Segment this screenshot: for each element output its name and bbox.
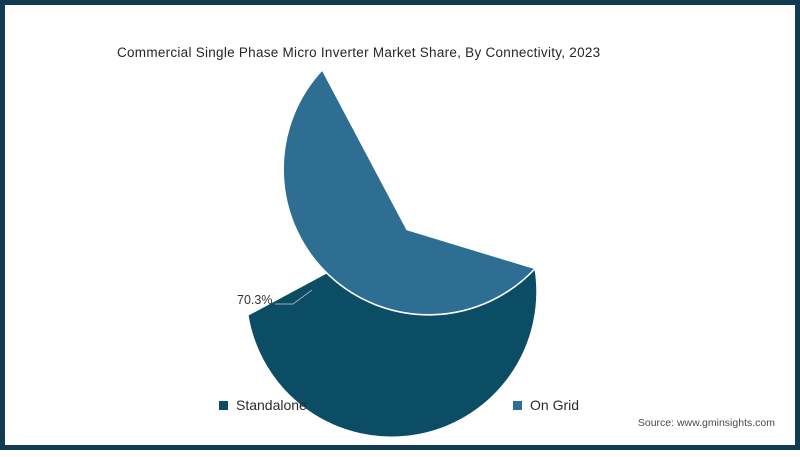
data-label-on-grid: 70.3% <box>237 293 272 307</box>
pie-chart <box>7 7 800 457</box>
legend-item-label: Standalone <box>236 397 307 413</box>
legend: Standalone On Grid <box>7 393 800 417</box>
legend-swatch-icon <box>219 401 228 410</box>
page-title: Commercial Single Phase Micro Inverter M… <box>117 43 737 62</box>
source-attribution: Source: www.gminsights.com <box>638 417 775 429</box>
leader-line-on-grid <box>275 290 312 304</box>
chart-canvas: Commercial Single Phase Micro Inverter M… <box>5 5 795 445</box>
chart-frame: Commercial Single Phase Micro Inverter M… <box>0 0 800 450</box>
pie-slice-standalone[interactable] <box>224 192 549 457</box>
legend-item-standalone[interactable]: Standalone <box>219 393 307 417</box>
legend-swatch-icon <box>513 401 522 410</box>
legend-item-label: On Grid <box>530 397 579 413</box>
pie-slice-on-grid[interactable] <box>247 65 572 346</box>
pie-chart-svg <box>7 7 800 457</box>
legend-item-on-grid[interactable]: On Grid <box>513 393 579 417</box>
